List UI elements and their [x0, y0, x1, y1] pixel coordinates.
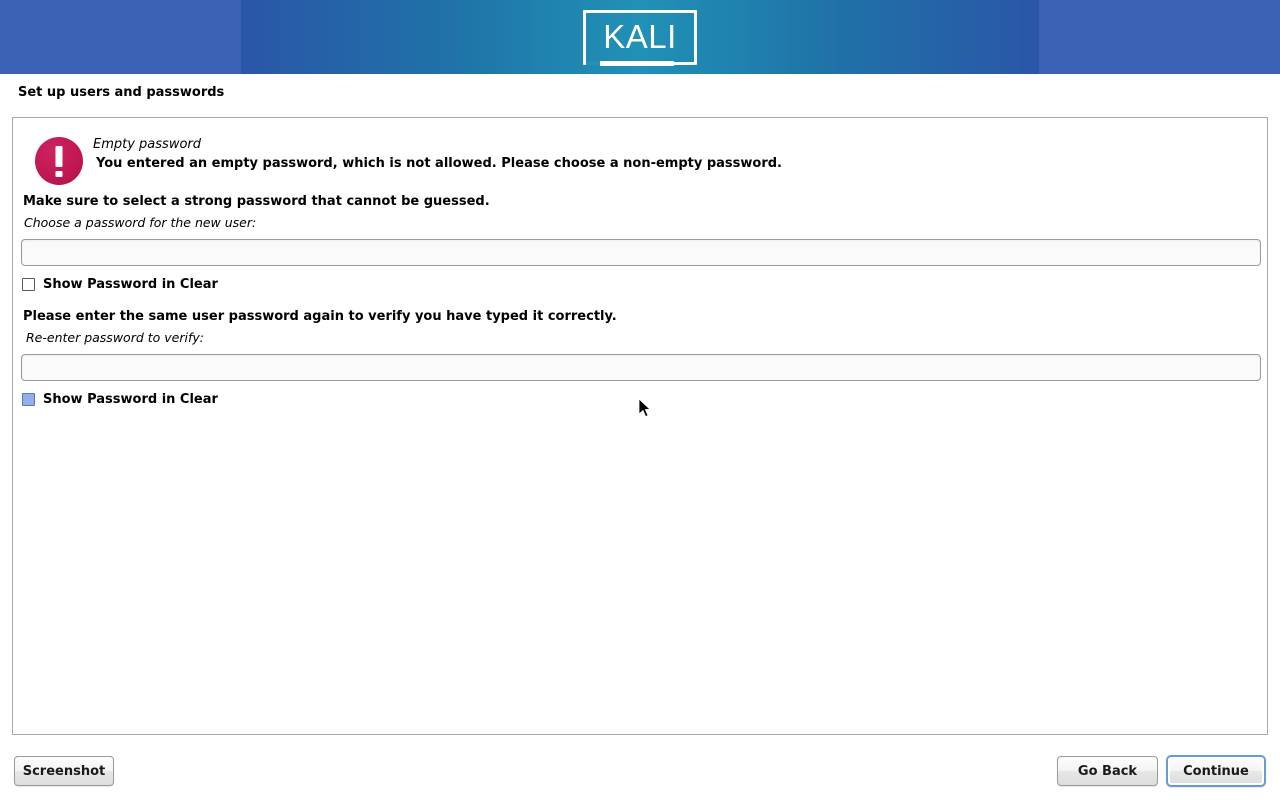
- error-message: You entered an empty password, which is …: [96, 156, 782, 171]
- show-password-in-clear-checkbox-row-2[interactable]: Show Password in Clear: [22, 392, 218, 407]
- show-password-in-clear-checkbox-row-1[interactable]: Show Password in Clear: [22, 277, 218, 292]
- password-input[interactable]: [21, 239, 1261, 266]
- kali-logo-text: KALI: [583, 10, 697, 65]
- show-password-in-clear-label-2: Show Password in Clear: [43, 392, 218, 407]
- go-back-button[interactable]: Go Back: [1057, 756, 1158, 786]
- password-section-heading: Make sure to select a strong password th…: [23, 194, 490, 209]
- verify-section-heading: Please enter the same user password agai…: [23, 309, 617, 324]
- password-field-label: Choose a password for the new user:: [24, 215, 256, 230]
- error-exclamation-icon: [35, 137, 83, 185]
- error-banner: Empty password You entered an empty pass…: [23, 128, 1253, 190]
- show-password-in-clear-label-1: Show Password in Clear: [43, 277, 218, 292]
- installer-content-panel: Empty password You entered an empty pass…: [12, 117, 1268, 735]
- banner-right-fill: [1039, 0, 1280, 74]
- continue-button[interactable]: Continue: [1166, 755, 1266, 787]
- exclamation-dot: [56, 171, 63, 177]
- banner-left-fill: [0, 0, 241, 74]
- page-title: Set up users and passwords: [18, 85, 224, 100]
- exclamation-bar: [56, 146, 63, 167]
- kali-logo: KALI: [583, 10, 697, 65]
- show-password-in-clear-checkbox-1[interactable]: [22, 278, 35, 291]
- verify-field-label: Re-enter password to verify:: [26, 330, 204, 345]
- screenshot-button[interactable]: Screenshot: [14, 756, 114, 786]
- show-password-in-clear-checkbox-2[interactable]: [22, 393, 35, 406]
- verify-password-input[interactable]: [21, 354, 1261, 381]
- kali-banner: KALI: [0, 0, 1280, 74]
- error-title: Empty password: [93, 137, 201, 152]
